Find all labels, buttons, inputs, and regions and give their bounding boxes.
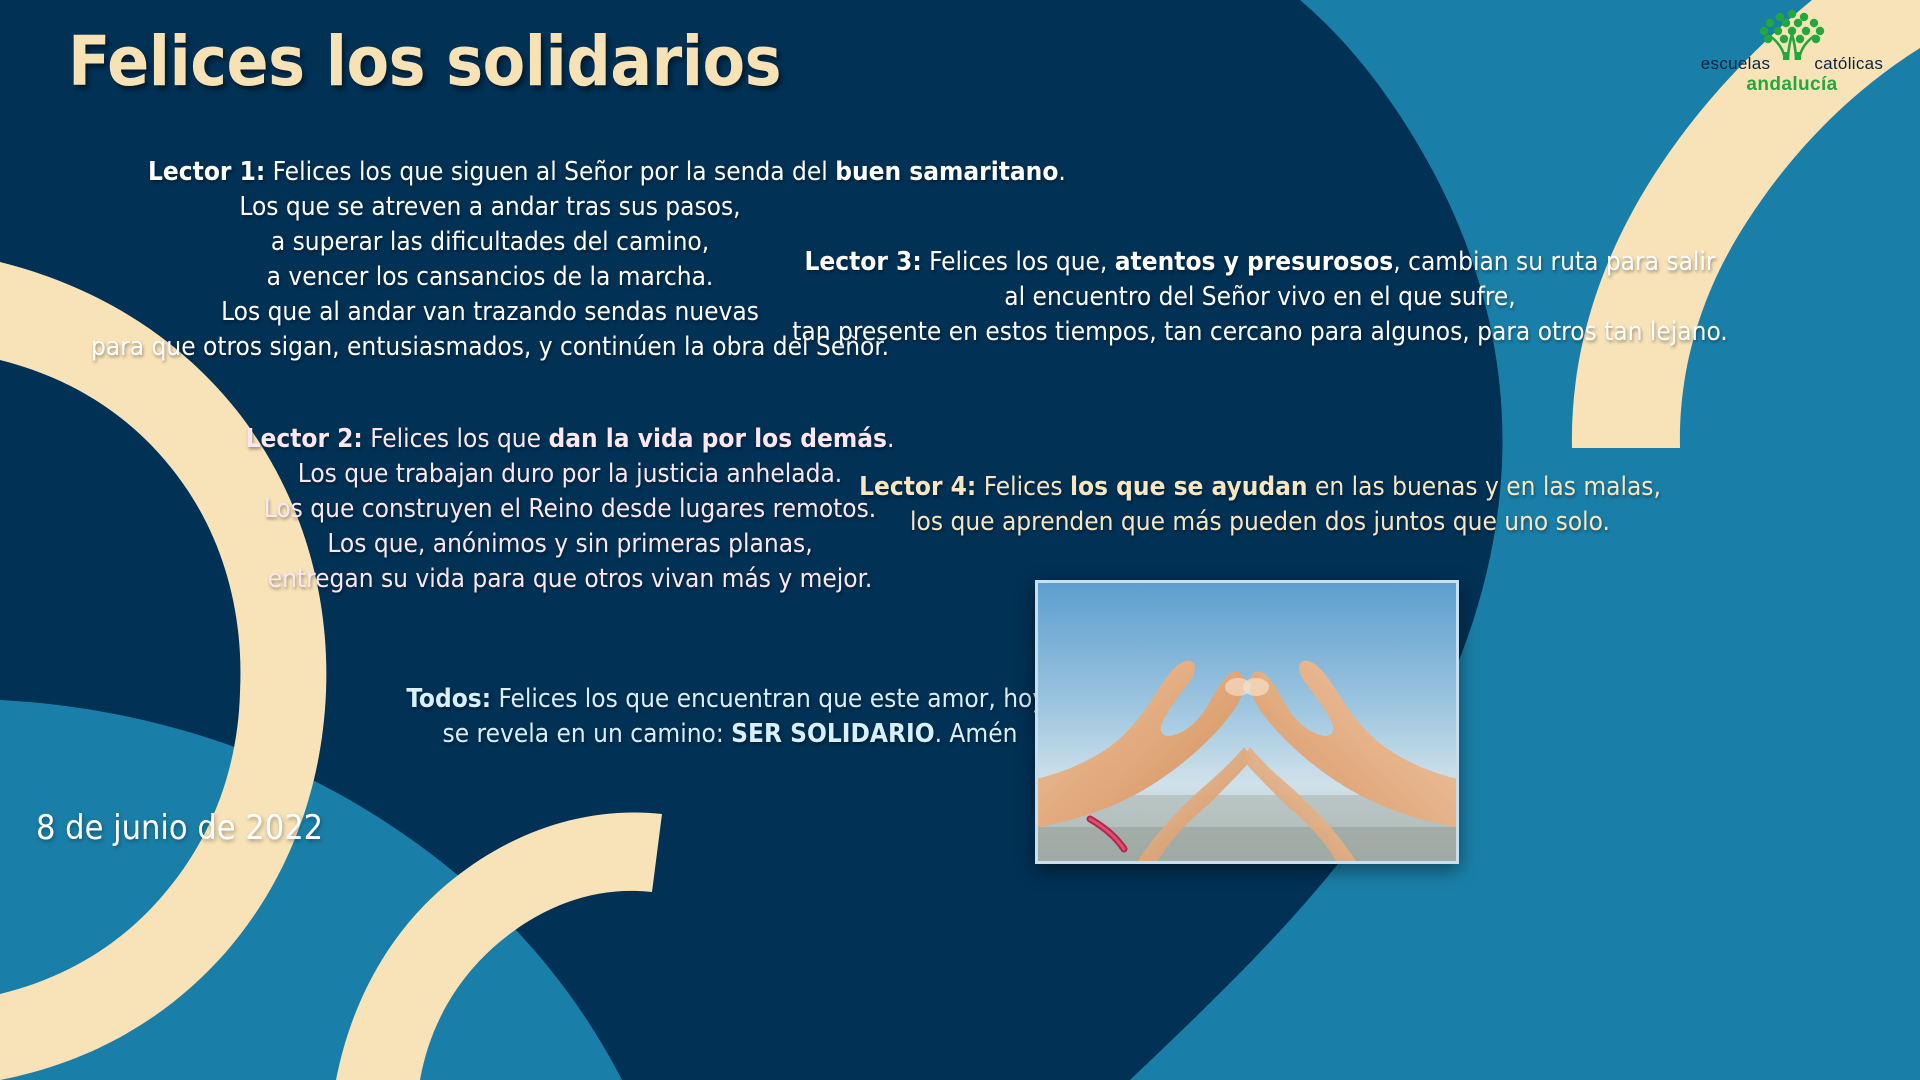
lector-1-line-1: Lector 1: Felices los que siguen al Seño… <box>0 155 980 190</box>
lector-3-line-3: tan presente en estos tiempos, tan cerca… <box>760 315 1760 350</box>
lector-4-speaker: Lector 4: <box>859 472 976 502</box>
lector-1-line-1-text: Felices los que siguen al Señor por la s… <box>273 157 1066 187</box>
lector-2-speaker: Lector 2: <box>246 424 363 454</box>
lector-3-block: Lector 3: Felices los que, atentos y pre… <box>760 245 1760 350</box>
lector-1-speaker: Lector 1: <box>148 157 265 187</box>
lector-3-line-1: Lector 3: Felices los que, atentos y pre… <box>760 245 1760 280</box>
lector-2-line-1-text: Felices los que dan la vida por los demá… <box>370 424 894 454</box>
lector-4-block: Lector 4: Felices los que se ayudan en l… <box>790 470 1730 540</box>
lector-3-speaker: Lector 3: <box>804 247 921 277</box>
tree-icon <box>1692 8 1892 60</box>
logo-word-catolicas: católicas <box>1814 54 1883 73</box>
hands-forming-heart-photo <box>1035 580 1459 864</box>
lector-3-line-1-text: Felices los que, atentos y presurosos, c… <box>929 247 1715 277</box>
page-title: Felices los solidarios <box>68 22 781 102</box>
logo-word-escuelas: escuelas <box>1701 54 1771 73</box>
lector-1-line-2: Los que se atreven a andar tras sus paso… <box>0 190 980 225</box>
slide-canvas: Felices los solidarios <box>0 0 1920 1080</box>
todos-speaker: Todos: <box>406 684 491 714</box>
lector-4-line-2: los que aprenden que más pueden dos junt… <box>790 505 1730 540</box>
slide-date: 8 de junio de 2022 <box>36 808 323 848</box>
lector-3-line-2: al encuentro del Señor vivo en el que su… <box>760 280 1760 315</box>
lector-4-line-1: Lector 4: Felices los que se ayudan en l… <box>790 470 1730 505</box>
escuelas-catolicas-logo: escuelas católicas andalucía <box>1692 10 1892 102</box>
lector-2-line-1: Lector 2: Felices los que dan la vida po… <box>150 422 990 457</box>
todos-line-2-text: se revela en un camino: SER SOLIDARIO. A… <box>443 719 1018 749</box>
logo-wordmark: escuelas católicas <box>1692 54 1892 74</box>
photo-illustration <box>1038 583 1456 861</box>
lector-4-line-1-text: Felices los que se ayudan en las buenas … <box>984 472 1661 502</box>
lector-2-line-5: entregan su vida para que otros vivan má… <box>150 562 990 597</box>
todos-line-1-text: Felices los que encuentran que este amor… <box>499 684 1054 714</box>
logo-region-andalucia: andalucía <box>1692 74 1892 96</box>
